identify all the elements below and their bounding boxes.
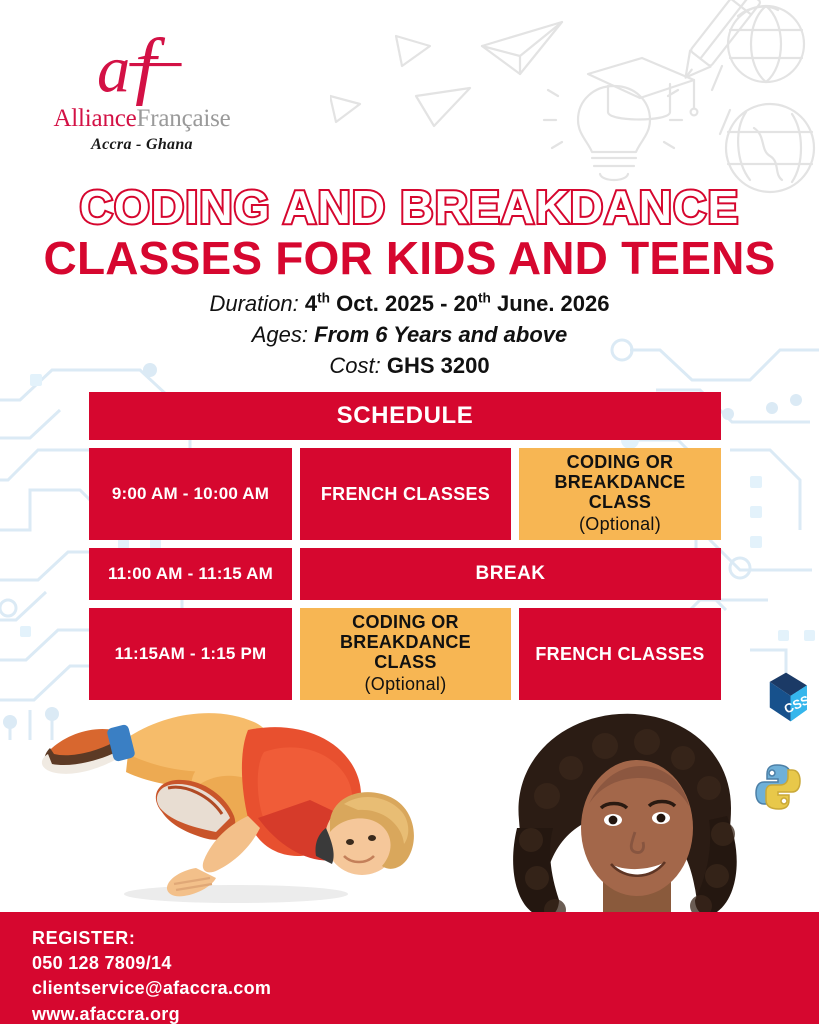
optional-cell-note: (Optional) [579,513,661,536]
optional-cell-line-2: BREAKDANCE [340,632,471,652]
schedule-break-cell: BREAK [300,548,721,600]
logo-location: Accra - Ghana [22,136,262,154]
python-logo-icon [753,762,803,812]
ages-value: From 6 Years and above [314,322,567,347]
logo-word-francaise: Française [137,105,231,132]
contact-phone[interactable]: 050 128 7809/14 [32,951,271,976]
optional-cell-line-3: CLASS [589,492,652,512]
schedule-table: SCHEDULE 9:00 AM - 10:00 AM FRENCH CLASS… [89,392,721,708]
duration-end-rest: June. 2026 [491,291,610,316]
headline-line-1: CODING AND BREAKDANCE [0,184,819,231]
table-row: 11:15AM - 1:15 PM CODING OR BREAKDANCE C… [89,608,721,700]
cost-label: Cost: [329,353,380,378]
headline-line-2: CLASSES FOR KIDS AND TEENS [0,233,819,285]
schedule-activity-cell: FRENCH CLASSES [300,448,511,540]
optional-cell-line-1: CODING OR [352,612,459,632]
duration-end-day: 20 [454,291,478,316]
logo-wordmark: AllianceFrançaise [22,106,262,132]
detail-cost: Cost: GHS 3200 [0,350,819,381]
alliance-francaise-logo: a f AllianceFrançaise Accra - Ghana [22,34,262,154]
logo-word-alliance: Alliance [53,105,136,132]
svg-text:a: a [97,34,130,106]
css3-logo-icon: CSS [757,668,815,726]
svg-text:f: f [135,34,166,106]
schedule-optional-cell: CODING OR BREAKDANCE CLASS (Optional) [300,608,511,700]
duration-start-rest: Oct. 2025 - [330,291,454,316]
breakdancing-boy-photo [10,692,430,907]
poster-root: a f AllianceFrançaise Accra - Ghana CODI… [0,0,819,1024]
course-details: Duration: 4th Oct. 2025 - 20th June. 202… [0,288,819,382]
education-doodles-decoration [330,0,819,200]
duration-start-suffix: th [317,291,330,306]
optional-cell-line-1: CODING OR [567,452,674,472]
duration-start-day: 4 [305,291,317,316]
schedule-header: SCHEDULE [89,392,721,440]
contact-info: REGISTER: 050 128 7809/14 clientservice@… [32,926,271,1024]
schedule-time-cell: 9:00 AM - 10:00 AM [89,448,292,540]
schedule-optional-cell: CODING OR BREAKDANCE CLASS (Optional) [519,448,721,540]
table-row: 9:00 AM - 10:00 AM FRENCH CLASSES CODING… [89,448,721,540]
cost-value: GHS 3200 [387,353,490,378]
schedule-activity-cell: FRENCH CLASSES [519,608,721,700]
duration-label: Duration: [209,291,298,316]
optional-cell-line-3: CLASS [374,652,437,672]
af-monogram-icon: a f [88,34,196,106]
contact-website[interactable]: www.afaccra.org [32,1002,271,1024]
detail-duration: Duration: 4th Oct. 2025 - 20th June. 202… [0,288,819,319]
contact-email[interactable]: clientservice@afaccra.com [32,976,271,1001]
optional-cell-line-2: BREAKDANCE [554,472,685,492]
footer-banner: REGISTER: 050 128 7809/14 clientservice@… [0,912,819,1024]
ages-label: Ages: [252,322,308,347]
table-row: 11:00 AM - 11:15 AM BREAK [89,548,721,600]
page-title: CODING AND BREAKDANCE CLASSES FOR KIDS A… [0,184,819,284]
duration-end-suffix: th [478,291,491,306]
register-label: REGISTER: [32,926,271,951]
schedule-time-cell: 11:00 AM - 11:15 AM [89,548,292,600]
detail-ages: Ages: From 6 Years and above [0,319,819,350]
schedule-time-cell: 11:15AM - 1:15 PM [89,608,292,700]
